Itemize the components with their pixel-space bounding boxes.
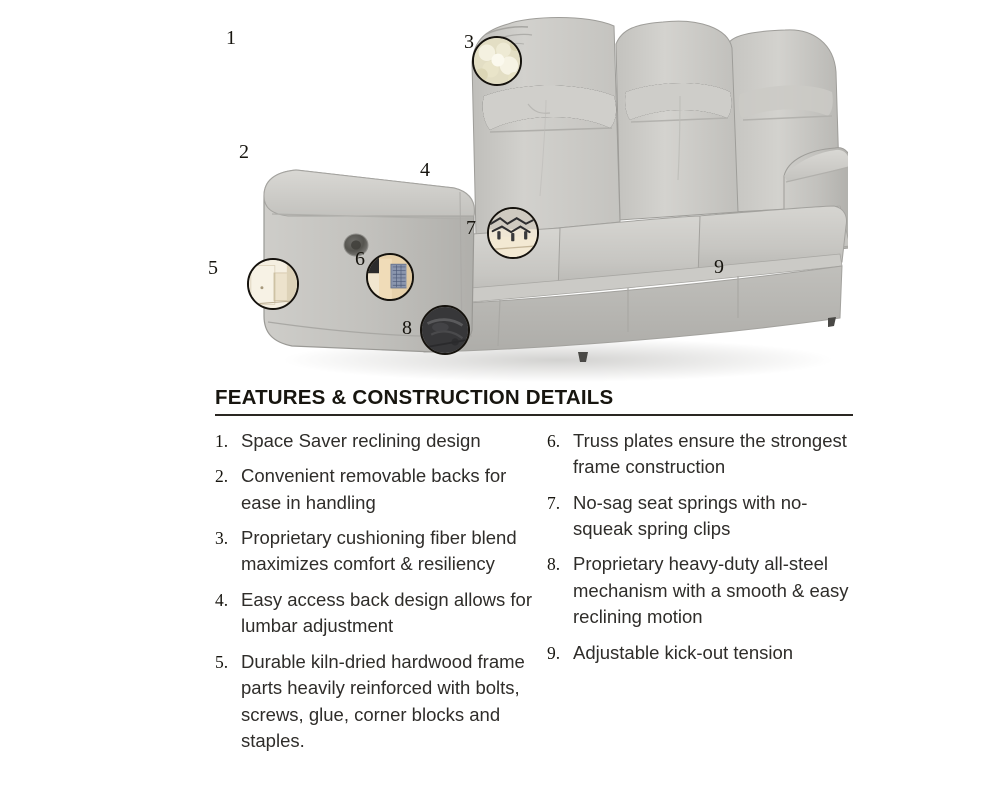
feature-number: 4. — [215, 587, 241, 640]
cushion-fiber-detail — [472, 36, 522, 86]
feature-number: 6. — [547, 428, 573, 481]
feature-number: 5. — [215, 649, 241, 755]
feature-text: Space Saver reclining design — [241, 428, 535, 454]
feature-text: No-sag seat springs with no-squeak sprin… — [573, 490, 855, 543]
feature-text: Adjustable kick-out tension — [573, 640, 855, 666]
marker-3: 3 — [464, 32, 474, 52]
feature-number: 2. — [215, 463, 241, 516]
sofa-illustration: 1 2 3 4 5 6 7 8 9 — [0, 0, 1000, 385]
feature-text: Truss plates ensure the strongest frame … — [573, 428, 855, 481]
features-section: FEATURES & CONSTRUCTION DETAILS 1. Space… — [215, 386, 855, 764]
features-title: FEATURES & CONSTRUCTION DETAILS — [215, 386, 855, 413]
marker-1: 1 — [226, 28, 236, 48]
feature-item-7: 7. No-sag seat springs with no-squeak sp… — [547, 490, 855, 543]
kiln-dried-wood-texture — [249, 260, 297, 308]
feature-number: 1. — [215, 428, 241, 454]
feature-number: 8. — [547, 551, 573, 630]
all-steel-mechanism — [422, 307, 468, 353]
marker-8: 8 — [402, 318, 412, 338]
truss-plate-detail — [366, 253, 414, 301]
marker-6: 6 — [355, 249, 365, 269]
feature-text: Easy access back design allows for lumba… — [241, 587, 535, 640]
feature-text: Durable kiln-dried hardwood frame parts … — [241, 649, 535, 755]
marker-2: 2 — [239, 142, 249, 162]
product-detail-page: 1 2 3 4 5 6 7 8 9 — [0, 0, 1000, 800]
feature-item-9: 9. Adjustable kick-out tension — [547, 640, 855, 666]
title-underline — [215, 414, 853, 416]
hardwood-frame-detail — [247, 258, 299, 310]
marker-5: 5 — [208, 258, 218, 278]
metal-truss-plate — [368, 255, 412, 299]
features-left-column: 1. Space Saver reclining design 2. Conve… — [215, 428, 535, 764]
sofa-graphic — [228, 0, 848, 385]
feature-text: Proprietary heavy-duty all-steel mechani… — [573, 551, 855, 630]
feature-text: Convenient removable backs for ease in h… — [241, 463, 535, 516]
feature-item-5: 5. Durable kiln-dried hardwood frame par… — [215, 649, 535, 755]
feature-item-2: 2. Convenient removable backs for ease i… — [215, 463, 535, 516]
steel-mechanism-detail — [420, 305, 470, 355]
features-columns: 1. Space Saver reclining design 2. Conve… — [215, 428, 855, 764]
feature-text: Proprietary cushioning fiber blend maxim… — [241, 525, 535, 578]
no-sag-springs — [489, 209, 537, 257]
feature-item-3: 3. Proprietary cushioning fiber blend ma… — [215, 525, 535, 578]
feature-item-1: 1. Space Saver reclining design — [215, 428, 535, 454]
marker-9: 9 — [714, 257, 724, 277]
feature-number: 9. — [547, 640, 573, 666]
marker-7: 7 — [466, 218, 476, 238]
feature-number: 3. — [215, 525, 241, 578]
feature-item-6: 6. Truss plates ensure the strongest fra… — [547, 428, 855, 481]
feature-item-8: 8. Proprietary heavy-duty all-steel mech… — [547, 551, 855, 630]
seat-spring-detail — [487, 207, 539, 259]
fiber-fill-texture — [474, 38, 520, 84]
features-right-column: 6. Truss plates ensure the strongest fra… — [535, 428, 855, 764]
feature-number: 7. — [547, 490, 573, 543]
feature-item-4: 4. Easy access back design allows for lu… — [215, 587, 535, 640]
marker-4: 4 — [420, 160, 430, 180]
